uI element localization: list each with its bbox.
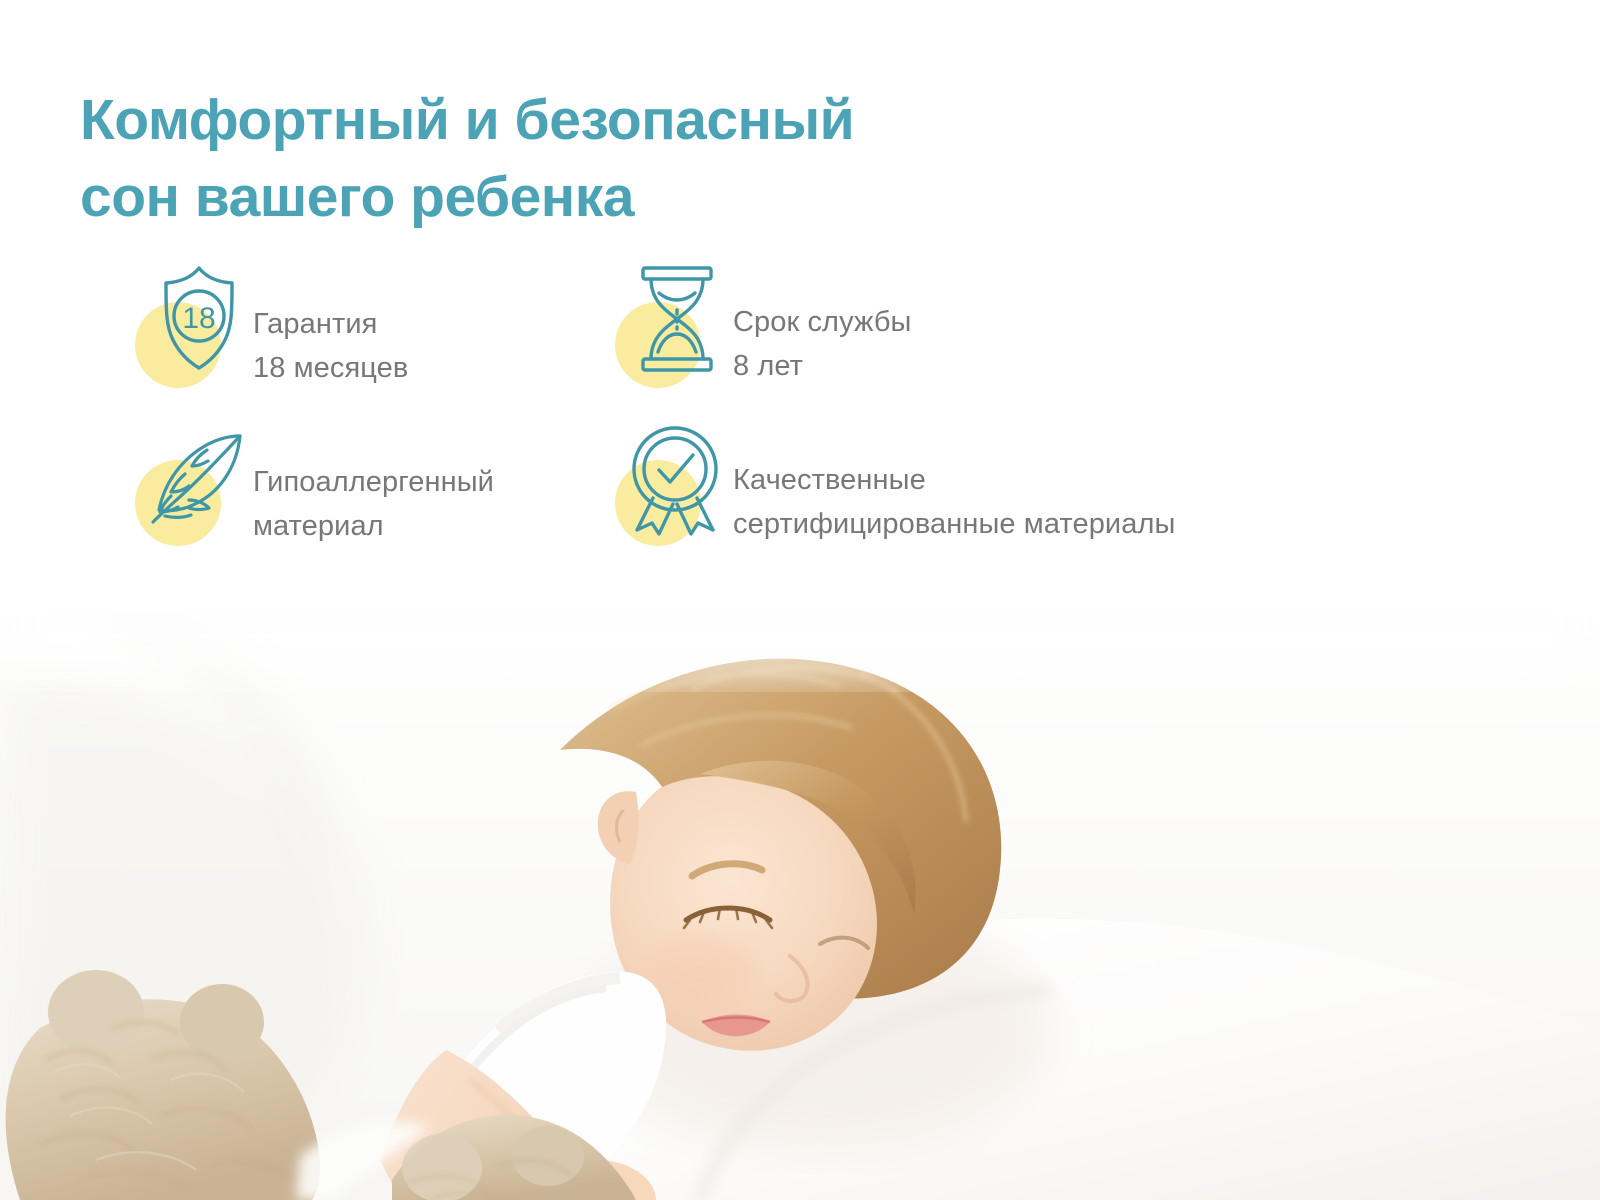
page-title: Комфортный и безопасный сон вашего ребен…	[80, 82, 1130, 236]
feature-warranty: 18 Гарантия 18 месяцев	[135, 262, 615, 390]
feature-list: 18 Гарантия 18 месяцев	[135, 262, 1475, 548]
feature-service-life: Срок службы 8 лет	[615, 262, 1395, 388]
feature-row: Гипоаллергенный материал	[135, 420, 1475, 548]
feature-icon-wrap	[615, 420, 733, 538]
shield-18-icon: 18	[153, 264, 245, 377]
feature-warranty-label: Гарантия 18 месяцев	[253, 262, 408, 390]
promo-banner: Комфортный и безопасный сон вашего ребен…	[0, 0, 1600, 1200]
feature-icon-wrap: 18	[135, 262, 253, 380]
feature-hypoallergenic-label: Гипоаллергенный материал	[253, 420, 494, 548]
shield-badge-number: 18	[182, 302, 215, 335]
feature-hypoallergenic: Гипоаллергенный материал	[135, 420, 615, 548]
feature-row: 18 Гарантия 18 месяцев	[135, 262, 1475, 390]
award-check-icon	[627, 424, 723, 541]
hero-photo: Спящий ребенок обнимает плюшевого мишку …	[0, 560, 1600, 1200]
feature-icon-wrap	[615, 262, 733, 380]
feather-icon	[145, 430, 249, 535]
feature-certified-label: Качественные сертифицированные материалы	[733, 420, 1175, 546]
feature-certified: Качественные сертифицированные материалы	[615, 420, 1395, 546]
feature-icon-wrap	[135, 420, 253, 538]
feature-service-life-label: Срок службы 8 лет	[733, 262, 911, 388]
hourglass-icon	[633, 264, 721, 379]
